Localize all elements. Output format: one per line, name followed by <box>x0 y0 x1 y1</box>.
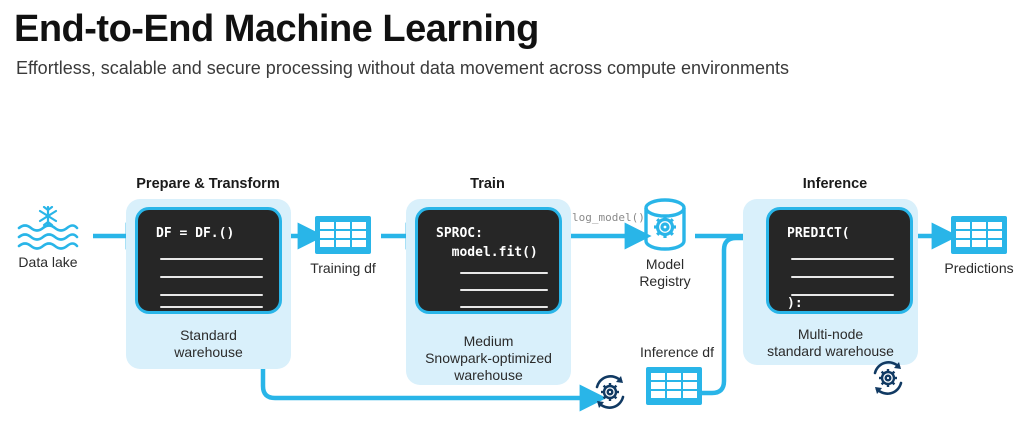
stage-caption-line: Snowpark-optimized <box>406 350 571 367</box>
code-rule <box>160 306 263 308</box>
code-rule <box>791 294 894 296</box>
code-card-train[interactable]: SPROC: model.fit() <box>415 207 562 314</box>
snowflake-water-icon <box>17 206 79 250</box>
stage-caption-inference: Multi-node standard warehouse <box>743 326 918 360</box>
stage-caption-line: Multi-node <box>743 326 918 343</box>
stage-caption-train: Medium Snowpark-optimized warehouse <box>406 333 571 384</box>
asset-inference-df: Inference df <box>622 344 732 407</box>
refresh-gear-icon <box>590 372 630 412</box>
asset-inference-df-label: Inference df <box>622 344 732 361</box>
code-card-inference-tail: ): <box>787 296 803 311</box>
code-card-prepare-text: DF = DF.() <box>156 224 234 243</box>
refresh-gear-badge-inference-df <box>590 372 630 417</box>
code-card-prepare[interactable]: DF = DF.() <box>135 207 282 314</box>
code-card-inference[interactable]: PREDICT( ): <box>766 207 913 314</box>
stage-title-inference: Inference <box>745 176 925 192</box>
asset-training-df: Training df <box>305 214 381 277</box>
asset-predictions-label: Predictions <box>941 260 1017 277</box>
stage-caption-line: Standard <box>126 327 291 344</box>
table-icon <box>644 365 704 407</box>
asset-model-registry: Model Registry <box>628 196 702 290</box>
code-card-inference-text: PREDICT( <box>787 224 850 243</box>
stage-title-train: Train <box>405 176 570 192</box>
code-rule <box>791 258 894 260</box>
asset-training-df-label: Training df <box>305 260 381 277</box>
code-rule <box>460 272 548 274</box>
refresh-gear-badge-inference-stage <box>868 358 908 403</box>
stage-caption-line: warehouse <box>406 367 571 384</box>
table-icon <box>949 214 1009 256</box>
asset-data-lake: Data lake <box>8 206 88 271</box>
code-rule <box>791 276 894 278</box>
database-gear-icon <box>637 196 693 254</box>
asset-label-line: Model <box>628 256 702 273</box>
code-rule <box>460 289 548 291</box>
code-rule <box>160 294 263 296</box>
stage-caption-prepare: Standard warehouse <box>126 327 291 361</box>
stage-title-prepare: Prepare & Transform <box>118 176 298 192</box>
asset-predictions: Predictions <box>941 214 1017 277</box>
code-rule <box>160 276 263 278</box>
refresh-gear-icon <box>868 358 908 398</box>
code-rule <box>160 258 263 260</box>
asset-model-registry-label: Model Registry <box>628 256 702 290</box>
asset-data-lake-label: Data lake <box>8 254 88 271</box>
stage-caption-line: Medium <box>406 333 571 350</box>
stage-caption-line: warehouse <box>126 344 291 361</box>
ml-pipeline-diagram: Data lake Prepare & Transform DF = DF.()… <box>0 0 1024 421</box>
code-card-train-text: SPROC: model.fit() <box>436 224 538 262</box>
asset-label-line: Registry <box>628 273 702 290</box>
table-icon <box>313 214 373 256</box>
code-rule <box>460 306 548 308</box>
